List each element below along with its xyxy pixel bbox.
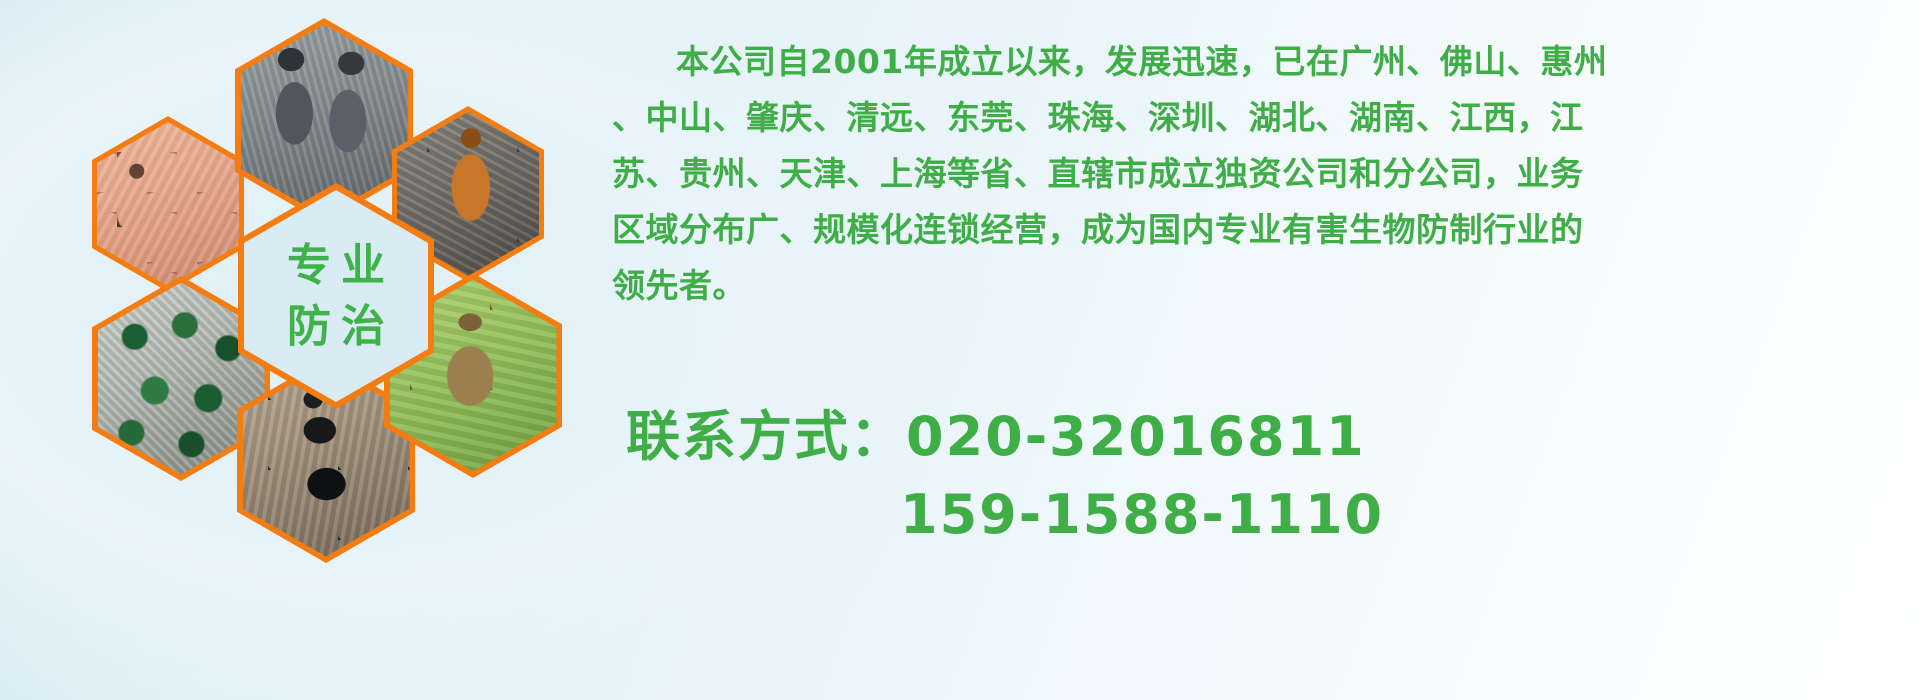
slogan-line-2: 防治 <box>277 299 395 354</box>
hex-cell-mosquito[interactable] <box>92 116 244 292</box>
intro-line-3: 苏、贵州、天津、上海等省、直辖市成立独资公司和分公司，业务 <box>612 146 1897 202</box>
intro-line-1: 本公司自2001年成立以来，发展迅速，已在广州、佛山、惠州 <box>612 34 1897 90</box>
contact-secondary-phone[interactable]: 159-1588-1110 <box>612 476 1897 554</box>
company-intro-paragraph: 本公司自2001年成立以来，发展迅速，已在广州、佛山、惠州 、中山、肇庆、清远、… <box>612 34 1897 314</box>
contact-block: 联系方式：020-32016811 159-1588-1110 <box>612 398 1897 554</box>
promo-banner: 专业 防治 本公司自2001年成立以来，发展迅速，已在广州、佛山、惠州 、中山、… <box>0 0 1920 700</box>
honeycomb-cluster: 专业 防治 <box>92 18 592 563</box>
rats-photo <box>241 25 408 217</box>
mosquito-photo <box>97 122 239 286</box>
contact-primary-phone[interactable]: 联系方式：020-32016811 <box>612 398 1897 476</box>
intro-line-5: 领先者。 <box>612 258 1897 314</box>
slogan-line-1: 专业 <box>277 238 395 293</box>
intro-line-2: 、中山、肇庆、清远、东莞、珠海、深圳、湖北、湖南、江西，江 <box>612 90 1897 146</box>
content-area: 本公司自2001年成立以来，发展迅速，已在广州、佛山、惠州 、中山、肇庆、清远、… <box>612 0 1912 700</box>
intro-line-4: 区域分布广、规模化连锁经营，成为国内专业有害生物防制行业的 <box>612 202 1897 258</box>
